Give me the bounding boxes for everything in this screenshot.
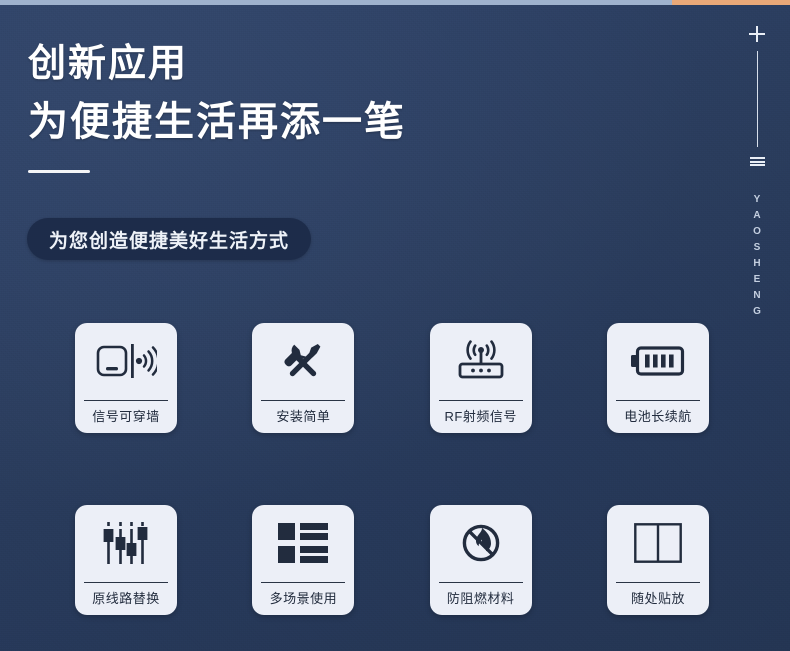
- battery-full-icon: [607, 323, 709, 400]
- feature-label: 电池长续航: [616, 400, 700, 429]
- right-rail: YAOSHENG: [742, 22, 772, 322]
- feature-label: 安装简单: [261, 400, 345, 429]
- feature-label: 信号可穿墙: [84, 400, 168, 429]
- feature-label: 随处贴放: [616, 582, 700, 611]
- feature-card-signal-through-wall[interactable]: 信号可穿墙: [75, 323, 177, 433]
- feature-card-multi-scenario[interactable]: 多场景使用: [252, 505, 354, 615]
- headline-line-1: 创新应用: [28, 38, 406, 90]
- headline-block: 创新应用 为便捷生活再添一笔: [28, 38, 406, 173]
- brand-vertical-text: YAOSHENG: [752, 194, 763, 322]
- router-rf-signal-icon: [430, 323, 532, 400]
- sliders-equalizer-icon: [75, 505, 177, 582]
- promo-banner: 创新应用 为便捷生活再添一笔 为您创造便捷美好生活方式 YAOSHENG: [0, 0, 790, 651]
- feature-label-text: 电池长续航: [624, 406, 692, 425]
- list-grid-layout-icon: [252, 505, 354, 582]
- feature-card-stick-anywhere[interactable]: 随处贴放: [607, 505, 709, 615]
- no-fire-flame-retardant-icon: [430, 505, 532, 582]
- feature-label: 防阻燃材料: [439, 582, 523, 611]
- feature-label-text: 原线路替换: [92, 588, 160, 607]
- title-underline-rule: [28, 170, 90, 173]
- top-strip-accent-segment: [672, 0, 790, 5]
- feature-card-easy-install[interactable]: 安装简单: [252, 323, 354, 433]
- feature-card-flame-retardant[interactable]: 防阻燃材料: [430, 505, 532, 615]
- feature-card-wiring-replacement[interactable]: 原线路替换: [75, 505, 177, 615]
- wall-switch-panel-icon: [607, 505, 709, 582]
- plus-icon[interactable]: [749, 26, 765, 39]
- feature-label-text: 随处贴放: [631, 588, 685, 607]
- top-strip-light-segment: [0, 0, 672, 5]
- feature-label-text: 信号可穿墙: [92, 406, 160, 425]
- feature-label-text: 防阻燃材料: [447, 588, 515, 607]
- hamburger-menu-icon[interactable]: [750, 157, 765, 166]
- feature-label: RF射频信号: [439, 400, 523, 429]
- signal-through-wall-icon: [75, 323, 177, 400]
- rail-divider-line: [757, 51, 758, 147]
- feature-label-text: 安装简单: [276, 406, 330, 425]
- feature-label-text: 多场景使用: [270, 588, 338, 607]
- subtitle-text: 为您创造便捷美好生活方式: [49, 226, 289, 253]
- subtitle-pill: 为您创造便捷美好生活方式: [27, 218, 311, 260]
- feature-label: 多场景使用: [261, 582, 345, 611]
- headline-line-2: 为便捷生活再添一笔: [28, 96, 406, 148]
- feature-grid: 信号可穿墙 安装简单: [75, 323, 709, 615]
- feature-card-rf-signal[interactable]: RF射频信号: [430, 323, 532, 433]
- top-color-strip: [0, 0, 790, 5]
- feature-card-battery-life[interactable]: 电池长续航: [607, 323, 709, 433]
- feature-label-text: RF射频信号: [444, 406, 516, 425]
- tools-wrench-screwdriver-icon: [252, 323, 354, 400]
- feature-label: 原线路替换: [84, 582, 168, 611]
